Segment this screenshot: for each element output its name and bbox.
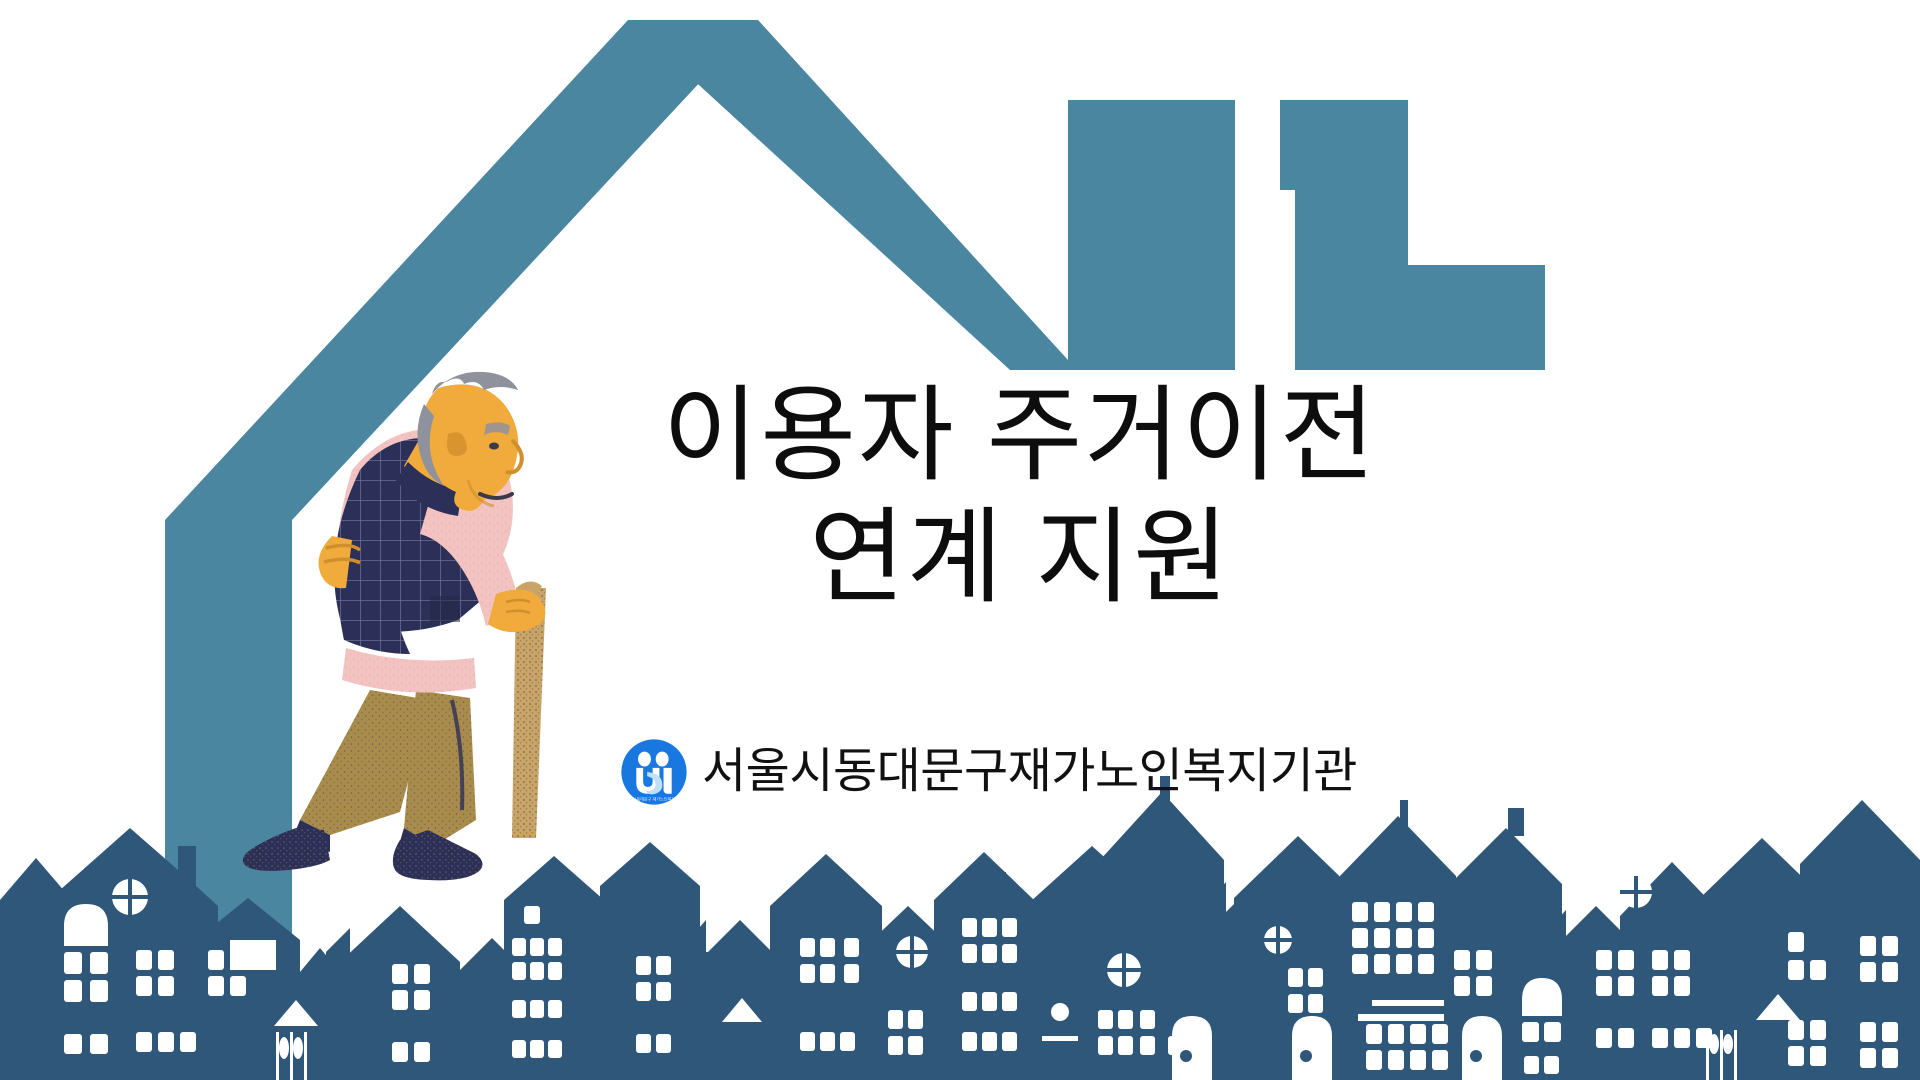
welfare-circle-logo-icon: 서울시동대문구 재가노인복지기관 xyxy=(620,738,688,806)
title-line-1: 이용자 주거이전 xyxy=(560,375,1480,497)
page-title: 이용자 주거이전 연계 지원 xyxy=(560,375,1480,619)
logo-ring-text: 서울시동대문구 재가노인복지기관 xyxy=(625,796,683,802)
organization-row: 서울시동대문구 재가노인복지기관 서울시동대문구재가노인복지기관 xyxy=(620,738,1357,806)
slide-canvas: 이용자 주거이전 연계 지원 서울시동대문구 재가노인복지기관 서울시동대문구재… xyxy=(0,0,1920,1080)
title-line-2: 연계 지원 xyxy=(560,497,1480,619)
organization-name: 서울시동대문구재가노인복지기관 xyxy=(702,744,1357,800)
